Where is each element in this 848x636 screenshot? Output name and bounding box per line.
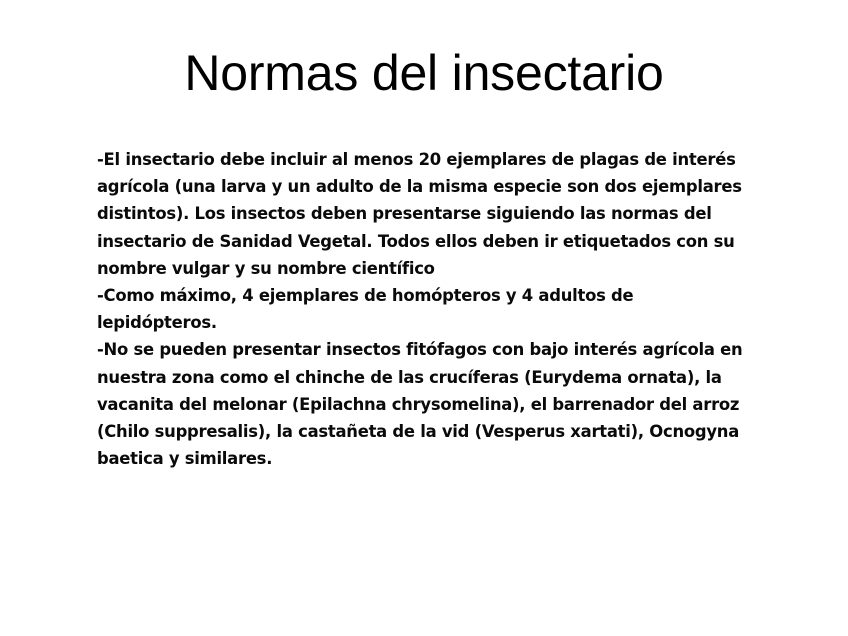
body-line: -Como máximo, 4 ejemplares de homópteros… bbox=[97, 282, 722, 309]
presentation-slide: Normas del insectario -El insectario deb… bbox=[0, 0, 848, 636]
body-line: (Chilo suppresalis), la castañeta de la … bbox=[97, 418, 722, 445]
body-line: -El insectario debe incluir al menos 20 … bbox=[97, 146, 722, 173]
body-line: baetica y similares. bbox=[97, 445, 722, 472]
body-line: nuestra zona como el chinche de las cruc… bbox=[97, 364, 722, 391]
body-line: lepidópteros. bbox=[97, 309, 722, 336]
slide-body-text: -El insectario debe incluir al menos 20 … bbox=[97, 146, 722, 472]
body-line: nombre vulgar y su nombre científico bbox=[97, 255, 722, 282]
body-line: agrícola (una larva y un adulto de la mi… bbox=[97, 173, 722, 200]
body-line: vacanita del melonar (Epilachna chrysome… bbox=[97, 391, 722, 418]
body-line: distintos). Los insectos deben presentar… bbox=[97, 200, 722, 227]
body-line: -No se pueden presentar insectos fitófag… bbox=[97, 336, 722, 363]
body-line: insectario de Sanidad Vegetal. Todos ell… bbox=[97, 228, 722, 255]
page-title: Normas del insectario bbox=[0, 44, 848, 102]
